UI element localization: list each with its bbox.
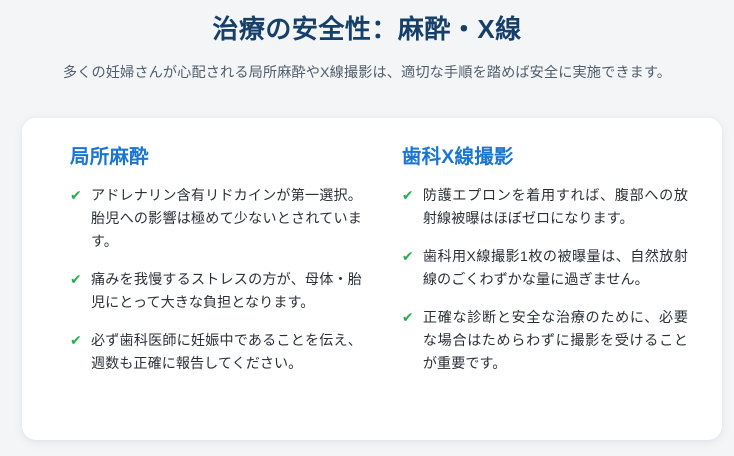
column-local-anesthesia: 局所麻酔 ✔ アドレナリン含有リドカインが第一選択。胎児への影響は極めて少ないと… — [52, 144, 372, 375]
list-item: ✔ 正確な診断と安全な治療のために、必要な場合はためらわずに撮影を受けることが重… — [402, 306, 688, 375]
check-icon: ✔ — [402, 245, 417, 268]
list-item: ✔ 必ず歯科医師に妊娠中であることを伝え、週数も正確に報告してください。 — [70, 329, 362, 375]
column-heading-dental-xray: 歯科X線撮影 — [402, 144, 688, 170]
safety-card: 局所麻酔 ✔ アドレナリン含有リドカインが第一選択。胎児への影響は極めて少ないと… — [22, 118, 722, 440]
column-dental-xray: 歯科X線撮影 ✔ 防護エプロンを着用すれば、腹部への放射線被曝はほぼゼロになりま… — [372, 144, 692, 375]
page-subtitle: 多くの妊婦さんが心配される局所麻酔やX線撮影は、適切な手順を踏めば安全に実施でき… — [0, 46, 734, 83]
list-item: ✔ アドレナリン含有リドカインが第一選択。胎児への影響は極めて少ないとされていま… — [70, 184, 362, 253]
column-heading-local-anesthesia: 局所麻酔 — [70, 144, 362, 170]
check-icon: ✔ — [70, 329, 85, 352]
list-item: ✔ 歯科用X線撮影1枚の被曝量は、自然放射線のごくわずかな量に過ぎません。 — [402, 245, 688, 291]
list-item-text: 痛みを我慢するストレスの方が、母体・胎児にとって大きな負担となります。 — [91, 268, 362, 314]
check-icon: ✔ — [402, 184, 417, 207]
check-icon: ✔ — [70, 268, 85, 291]
list-item-text: 歯科用X線撮影1枚の被曝量は、自然放射線のごくわずかな量に過ぎません。 — [423, 245, 688, 291]
list-item-text: 必ず歯科医師に妊娠中であることを伝え、週数も正確に報告してください。 — [91, 329, 362, 375]
list-item-text: 正確な診断と安全な治療のために、必要な場合はためらわずに撮影を受けることが重要で… — [423, 306, 688, 375]
page-title: 治療の安全性：麻酔・X線 — [0, 12, 734, 46]
list-item: ✔ 防護エプロンを着用すれば、腹部への放射線被曝はほぼゼロになります。 — [402, 184, 688, 230]
list-item-text: アドレナリン含有リドカインが第一選択。胎児への影響は極めて少ないとされています。 — [91, 184, 362, 253]
page-header: 治療の安全性：麻酔・X線 多くの妊婦さんが心配される局所麻酔やX線撮影は、適切な… — [0, 0, 734, 83]
list-item: ✔ 痛みを我慢するストレスの方が、母体・胎児にとって大きな負担となります。 — [70, 268, 362, 314]
bullet-list-dental-xray: ✔ 防護エプロンを着用すれば、腹部への放射線被曝はほぼゼロになります。 ✔ 歯科… — [402, 184, 688, 375]
check-icon: ✔ — [70, 184, 85, 207]
safety-info-page: 治療の安全性：麻酔・X線 多くの妊婦さんが心配される局所麻酔やX線撮影は、適切な… — [0, 0, 734, 456]
check-icon: ✔ — [402, 306, 417, 329]
bullet-list-local-anesthesia: ✔ アドレナリン含有リドカインが第一選択。胎児への影響は極めて少ないとされていま… — [70, 184, 362, 375]
list-item-text: 防護エプロンを着用すれば、腹部への放射線被曝はほぼゼロになります。 — [423, 184, 688, 230]
